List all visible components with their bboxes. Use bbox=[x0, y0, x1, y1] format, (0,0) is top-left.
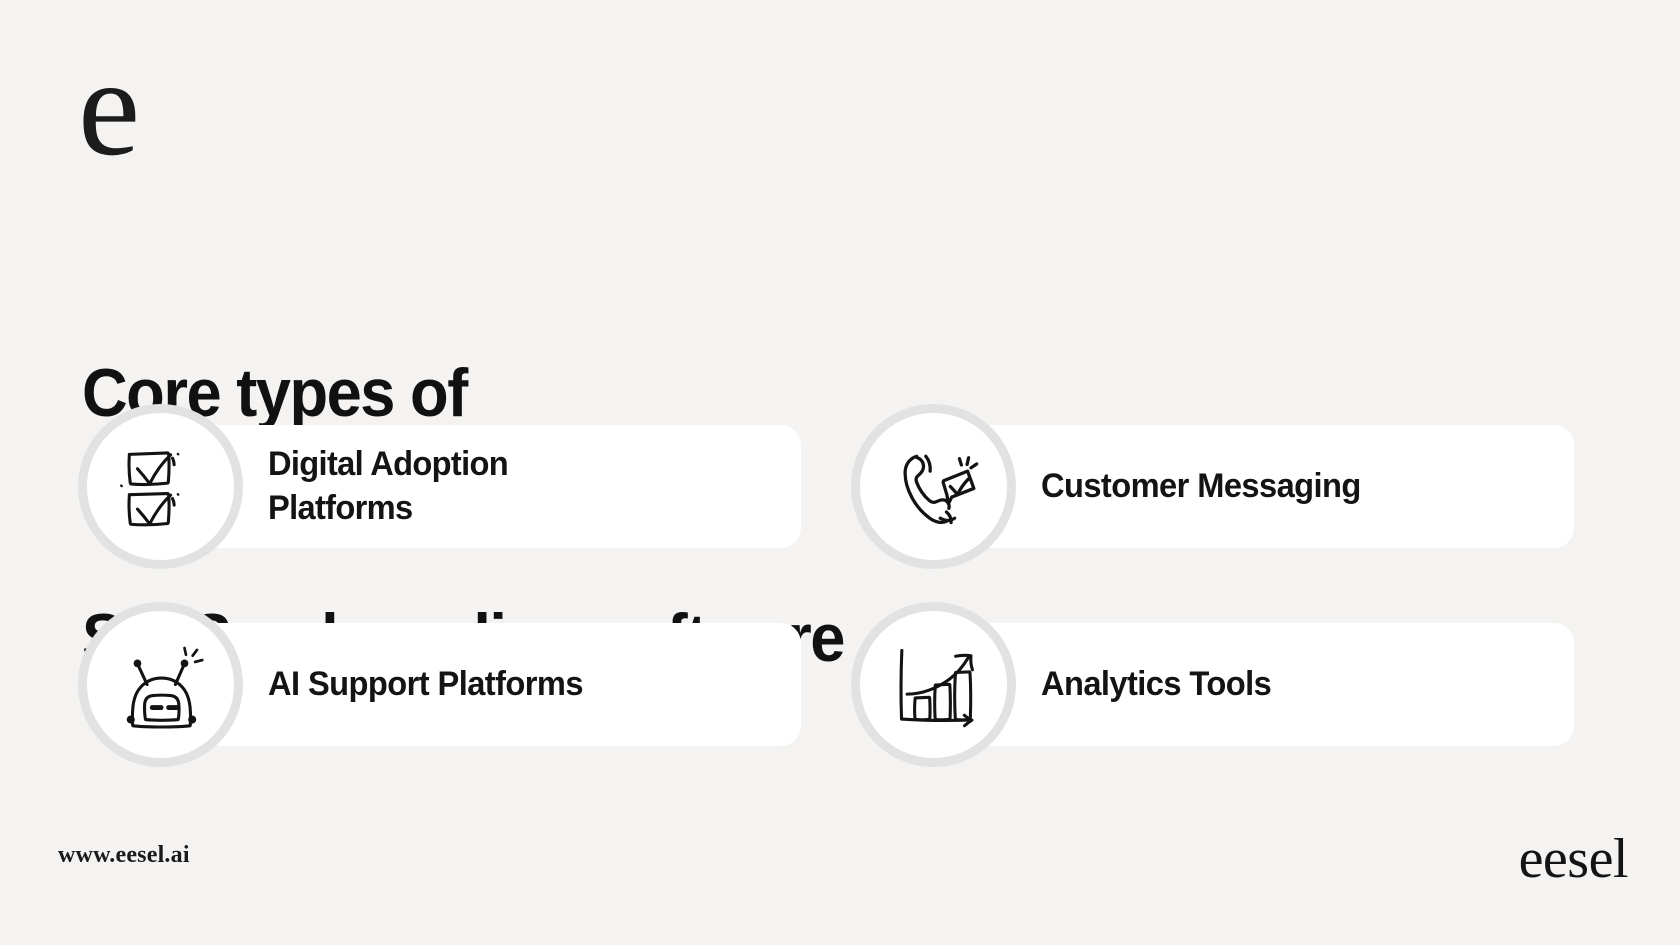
phone-chat-icon bbox=[886, 439, 982, 535]
card-grid: Digital Adoption Platforms bbox=[78, 404, 1574, 767]
card-pill: Digital Adoption Platforms bbox=[158, 425, 801, 548]
footer-website-url[interactable]: www.eesel.ai bbox=[58, 842, 190, 869]
card-pill: Analytics Tools bbox=[931, 623, 1574, 746]
card-label: AI Support Platforms bbox=[268, 663, 583, 707]
robot-icon bbox=[113, 637, 209, 733]
icon-badge bbox=[851, 404, 1016, 569]
bar-chart-growth-icon bbox=[886, 637, 982, 733]
card-customer-messaging[interactable]: Customer Messaging bbox=[851, 404, 1574, 569]
slide-canvas: e Core types of SaaS onboarding software… bbox=[0, 0, 1680, 945]
brand-mark-e: e bbox=[78, 38, 138, 178]
icon-badge bbox=[78, 602, 243, 767]
card-label: Analytics Tools bbox=[1041, 663, 1271, 707]
card-label: Customer Messaging bbox=[1041, 465, 1361, 509]
card-analytics-tools[interactable]: Analytics Tools bbox=[851, 602, 1574, 767]
icon-badge bbox=[78, 404, 243, 569]
card-label: Digital Adoption Platforms bbox=[268, 443, 508, 530]
icon-badge bbox=[851, 602, 1016, 767]
card-digital-adoption-platforms[interactable]: Digital Adoption Platforms bbox=[78, 404, 801, 569]
card-pill: Customer Messaging bbox=[931, 425, 1574, 548]
footer-brand-wordmark: eesel bbox=[1519, 831, 1628, 887]
card-ai-support-platforms[interactable]: AI Support Platforms bbox=[78, 602, 801, 767]
checkboxes-icon bbox=[113, 439, 209, 535]
card-pill: AI Support Platforms bbox=[158, 623, 801, 746]
